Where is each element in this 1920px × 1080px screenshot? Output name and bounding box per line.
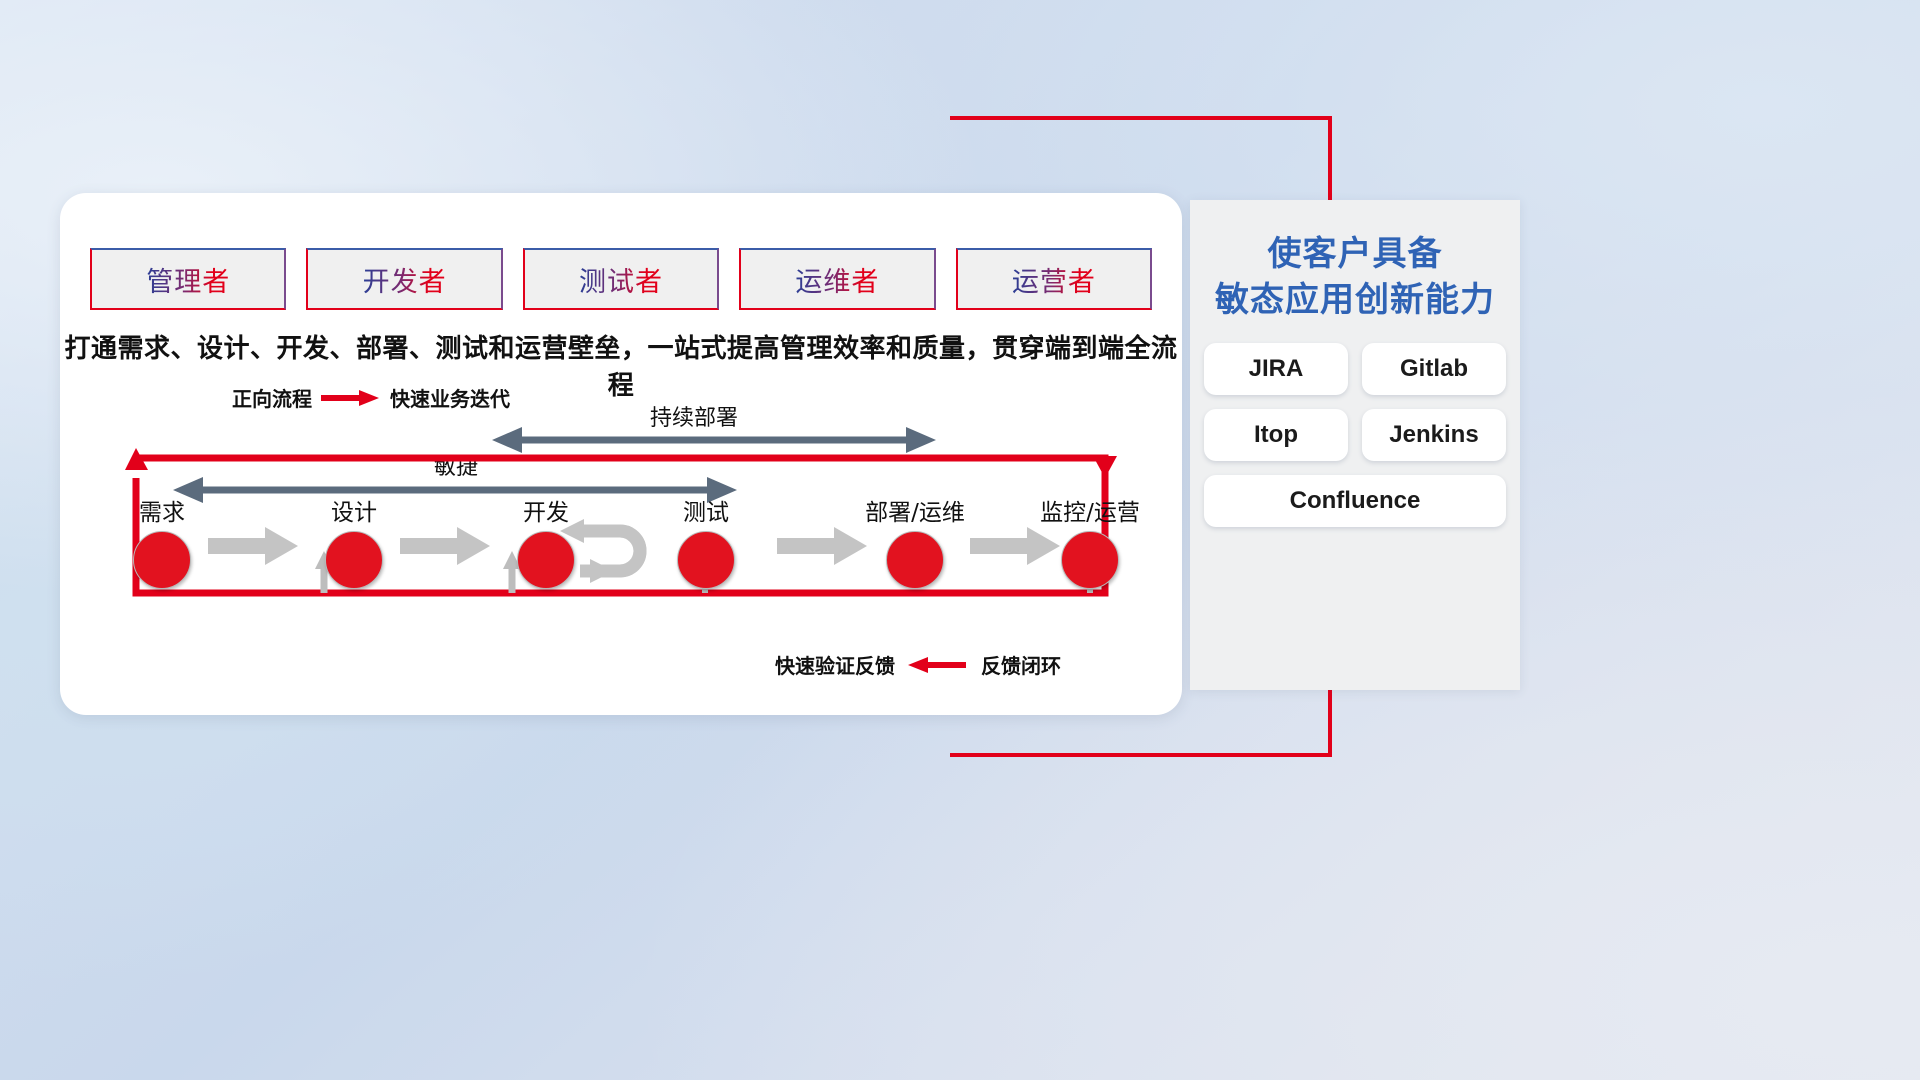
stage-2[interactable]: 开发 <box>486 493 606 589</box>
value-proposition-panel: 使客户具备 敏态应用创新能力 JIRA Gitlab Itop Jenkins … <box>1190 200 1520 690</box>
tool-label: Gitlab <box>1400 355 1468 383</box>
tool-label: Itop <box>1254 421 1298 449</box>
stage-dot <box>1061 531 1119 589</box>
stage-label: 开发 <box>486 493 606 527</box>
stage-label: 部署/运维 <box>840 493 990 527</box>
stage-label: 需求 <box>102 493 222 527</box>
stage-0[interactable]: 需求 <box>102 493 222 589</box>
panel-title-line2: 敏态应用创新能力 <box>1190 278 1520 324</box>
panel-title-line1: 使客户具备 <box>1190 232 1520 278</box>
tool-label: Confluence <box>1290 487 1421 515</box>
stage-label: 监控/运营 <box>1015 493 1165 527</box>
tool-item-gitlab[interactable]: Gitlab <box>1362 343 1506 395</box>
pipeline-graphics <box>60 193 1182 715</box>
continuous-deployment-arrow <box>492 427 936 453</box>
stage-dot <box>517 531 575 589</box>
tool-item-jenkins[interactable]: Jenkins <box>1362 409 1506 461</box>
stage-dot <box>325 531 383 589</box>
main-diagram-card: 管理者 开发者 测试者 运维者 运营者 打通需求、设计、开发、部署、测试和运营壁… <box>60 193 1182 715</box>
stage-dot <box>886 531 944 589</box>
tool-item-itop[interactable]: Itop <box>1204 409 1348 461</box>
stage-3[interactable]: 测试 <box>646 493 766 589</box>
stage-dot <box>133 531 191 589</box>
stage-label: 设计 <box>294 493 414 527</box>
tool-item-confluence[interactable]: Confluence <box>1204 475 1506 527</box>
tool-label: Jenkins <box>1389 421 1478 449</box>
stage-4[interactable]: 部署/运维 <box>840 493 990 589</box>
stage-dot <box>677 531 735 589</box>
panel-title: 使客户具备 敏态应用创新能力 <box>1190 200 1520 323</box>
tool-label: JIRA <box>1249 355 1304 383</box>
stage-1[interactable]: 设计 <box>294 493 414 589</box>
tool-list: JIRA Gitlab Itop Jenkins Confluence <box>1190 323 1520 527</box>
stage-5[interactable]: 监控/运营 <box>1015 493 1165 589</box>
stage-label: 测试 <box>646 493 766 527</box>
tool-item-jira[interactable]: JIRA <box>1204 343 1348 395</box>
